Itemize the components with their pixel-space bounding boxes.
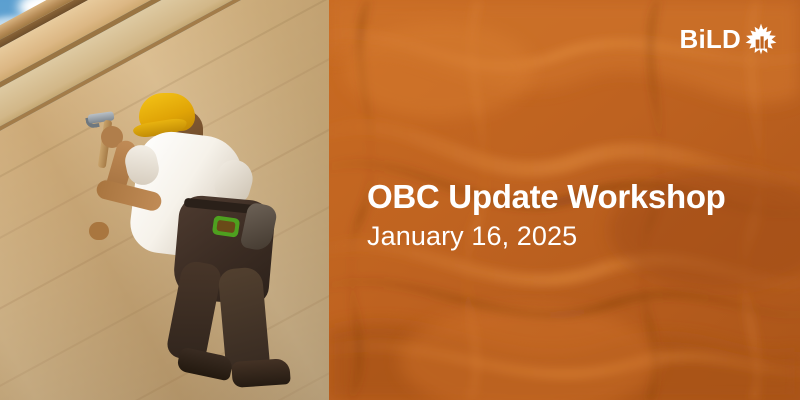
page-title: OBC Update Workshop — [367, 179, 800, 216]
maple-leaf-house-icon — [744, 22, 778, 56]
pants-logo-patch — [212, 215, 240, 237]
construction-worker — [0, 0, 329, 400]
event-date: January 16, 2025 — [367, 220, 800, 252]
bild-logo[interactable]: BiLD — [680, 22, 778, 56]
event-banner: BiLD OBC Update Workshop January 16, 202… — [0, 0, 800, 400]
banner-text: OBC Update Workshop January 16, 2025 — [367, 179, 800, 252]
worker-boot-front — [231, 358, 291, 388]
hero-photo — [0, 0, 329, 400]
worker-hand-lower — [89, 222, 109, 240]
content-panel: BiLD OBC Update Workshop January 16, 202… — [329, 0, 800, 400]
bild-wordmark: BiLD — [680, 26, 741, 52]
